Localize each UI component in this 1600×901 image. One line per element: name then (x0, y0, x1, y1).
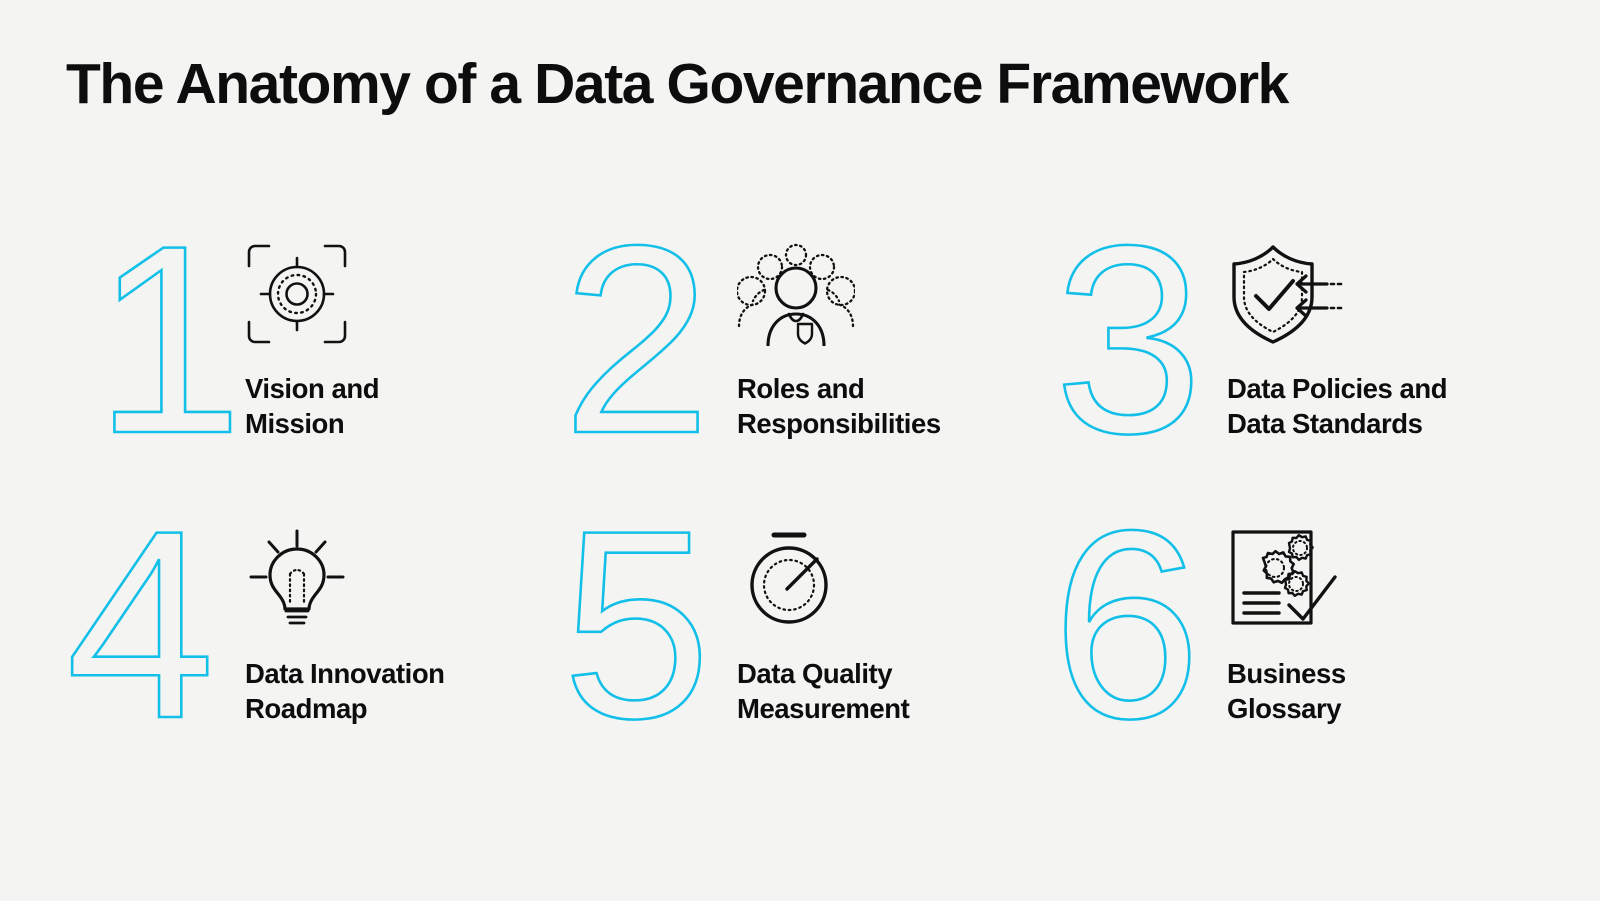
item-label-6-line2: Glossary (1227, 692, 1536, 727)
shield-check-icon (1227, 242, 1345, 350)
item-content-5: Data Quality Measurement (731, 513, 1046, 726)
item-label-3: Data Policies and Data Standards (1227, 372, 1536, 441)
people-group-icon (737, 242, 855, 350)
item-label-4-line1: Data Innovation (245, 658, 445, 689)
item-label-6: Business Glossary (1227, 657, 1536, 726)
gauge-meter-icon (737, 527, 855, 635)
numeral-text-5: 5 (562, 474, 711, 774)
item-number-5: 5 (556, 513, 731, 743)
numeral-text-6: 6 (1052, 474, 1201, 774)
framework-item-6: 6 (1046, 513, 1536, 798)
item-label-6-line1: Business (1227, 658, 1346, 689)
item-number-6: 6 (1046, 513, 1221, 743)
item-number-1: 1 (66, 228, 241, 458)
item-label-4: Data Innovation Roadmap (245, 657, 556, 726)
item-label-1-line1: Vision and (245, 373, 379, 404)
item-label-4-line2: Roadmap (245, 692, 556, 727)
framework-item-2: 2 (556, 228, 1046, 513)
numeral-text-2: 2 (562, 189, 711, 489)
item-label-3-line1: Data Policies and (1227, 373, 1447, 404)
lightbulb-icon (245, 527, 363, 635)
item-label-2-line2: Responsibilities (737, 407, 1046, 442)
item-label-5-line1: Data Quality (737, 658, 892, 689)
framework-item-4: 4 (66, 513, 556, 798)
item-label-3-line2: Data Standards (1227, 407, 1536, 442)
page-title: The Anatomy of a Data Governance Framewo… (66, 52, 1288, 118)
item-content-4: Data Innovation Roadmap (241, 513, 556, 726)
item-label-5-line2: Measurement (737, 692, 1046, 727)
item-content-6: Business Glossary (1221, 513, 1536, 726)
framework-item-3: 3 (1046, 228, 1536, 513)
target-crosshair-icon (245, 242, 363, 350)
item-label-2: Roles and Responsibilities (737, 372, 1046, 441)
item-number-2: 2 (556, 228, 731, 458)
framework-item-1: 1 (66, 228, 556, 513)
item-content-2: Roles and Responsibilities (731, 228, 1046, 441)
framework-item-5: 5 Data Quality Measurement (556, 513, 1046, 798)
item-content-3: Data Policies and Data Standards (1221, 228, 1536, 441)
numeral-text-3: 3 (1054, 189, 1203, 489)
item-label-1-line2: Mission (245, 407, 556, 442)
item-label-1: Vision and Mission (245, 372, 556, 441)
numeral-text-1: 1 (94, 189, 243, 489)
document-gears-check-icon (1227, 527, 1345, 635)
numeral-text-4: 4 (66, 474, 215, 774)
item-number-4: 4 (66, 513, 241, 743)
item-label-2-line1: Roles and (737, 373, 864, 404)
item-content-1: Vision and Mission (241, 228, 556, 441)
framework-items-grid: 1 (66, 228, 1536, 798)
item-label-5: Data Quality Measurement (737, 657, 1046, 726)
item-number-3: 3 (1046, 228, 1221, 458)
